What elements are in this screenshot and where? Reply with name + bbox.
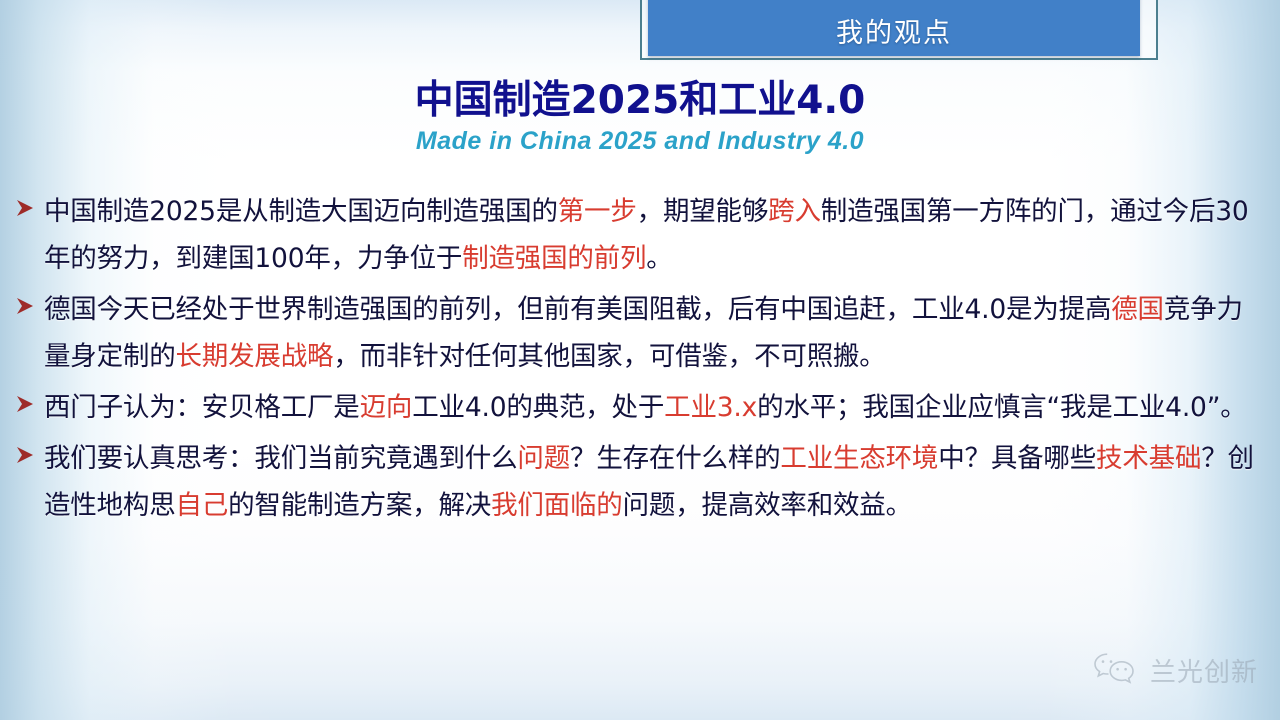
highlighted-text: 我们面临的	[491, 490, 623, 521]
bullet-item: 我们要认真思考：我们当前究竟遇到什么问题？生存在什么样的工业生态环境中？具备哪些…	[14, 435, 1268, 529]
arrow-bullet-icon	[14, 188, 44, 218]
page-title: 中国制造2025和工业4.0	[0, 78, 1280, 124]
body-text: ，期望能够	[637, 196, 769, 227]
highlighted-text: 制造强国的前列	[462, 243, 646, 274]
highlighted-text: 跨入	[768, 196, 821, 227]
bullet-list: 中国制造2025是从制造大国迈向制造强国的第一步，期望能够跨入制造强国第一方阵的…	[14, 188, 1268, 533]
bullet-item: 德国今天已经处于世界制造强国的前列，但前有美国阻截，后有中国追赶，工业4.0是为…	[14, 286, 1268, 380]
highlighted-text: 自己	[176, 490, 229, 521]
bullet-text: 中国制造2025是从制造大国迈向制造强国的第一步，期望能够跨入制造强国第一方阵的…	[44, 188, 1268, 282]
highlighted-text: 迈向	[360, 392, 413, 423]
body-text: 的智能制造方案，解决	[228, 490, 491, 521]
body-text: ？生存在什么样的	[570, 443, 780, 474]
bullet-item: 西门子认为：安贝格工厂是迈向工业4.0的典范，处于工业3.x的水平；我国企业应慎…	[14, 384, 1268, 431]
body-text: 工业4.0的典范，处于	[412, 392, 664, 423]
body-text: 中？具备哪些	[938, 443, 1096, 474]
body-text: ，而非针对任何其他国家，可借鉴，不可照搬。	[333, 341, 885, 372]
body-text: 德国今天已经处于世界制造强国的前列，但前有美国阻截，后有中国追赶，工业4.0是为…	[44, 294, 1111, 325]
body-text: 西门子认为：安贝格工厂是	[44, 392, 360, 423]
wechat-icon	[1092, 651, 1138, 690]
highlighted-text: 第一步	[558, 196, 637, 227]
highlighted-text: 长期发展战略	[176, 341, 334, 372]
slide-canvas: 我的观点 中国制造2025和工业4.0 Made in China 2025 a…	[0, 0, 1280, 720]
bullet-item: 中国制造2025是从制造大国迈向制造强国的第一步，期望能够跨入制造强国第一方阵的…	[14, 188, 1268, 282]
highlighted-text: 问题	[517, 443, 570, 474]
arrow-bullet-icon	[14, 286, 44, 316]
header-badge: 我的观点	[648, 0, 1140, 56]
highlighted-text: 技术基础	[1096, 443, 1201, 474]
bullet-text: 西门子认为：安贝格工厂是迈向工业4.0的典范，处于工业3.x的水平；我国企业应慎…	[44, 384, 1268, 431]
body-text: 我们要认真思考：我们当前究竟遇到什么	[44, 443, 517, 474]
page-subtitle: Made in China 2025 and Industry 4.0	[0, 126, 1280, 156]
highlighted-text: 德国	[1111, 294, 1164, 325]
watermark-label: 兰光创新	[1150, 652, 1258, 689]
highlighted-text: 工业生态环境	[780, 443, 938, 474]
body-text: 的水平；我国企业应慎言“我是工业4.0”。	[757, 392, 1246, 423]
arrow-bullet-icon	[14, 384, 44, 414]
bullet-text: 德国今天已经处于世界制造强国的前列，但前有美国阻截，后有中国追赶，工业4.0是为…	[44, 286, 1268, 380]
body-text: 。	[646, 243, 672, 274]
bullet-text: 我们要认真思考：我们当前究竟遇到什么问题？生存在什么样的工业生态环境中？具备哪些…	[44, 435, 1268, 529]
body-text: 中国制造2025是从制造大国迈向制造强国的	[44, 196, 558, 227]
title-block: 中国制造2025和工业4.0 Made in China 2025 and In…	[0, 78, 1280, 156]
body-text: 问题，提高效率和效益。	[623, 490, 912, 521]
highlighted-text: 工业3.x	[664, 392, 757, 423]
header-badge-label: 我的观点	[836, 11, 952, 50]
arrow-bullet-icon	[14, 435, 44, 465]
watermark: 兰光创新	[1092, 651, 1258, 690]
